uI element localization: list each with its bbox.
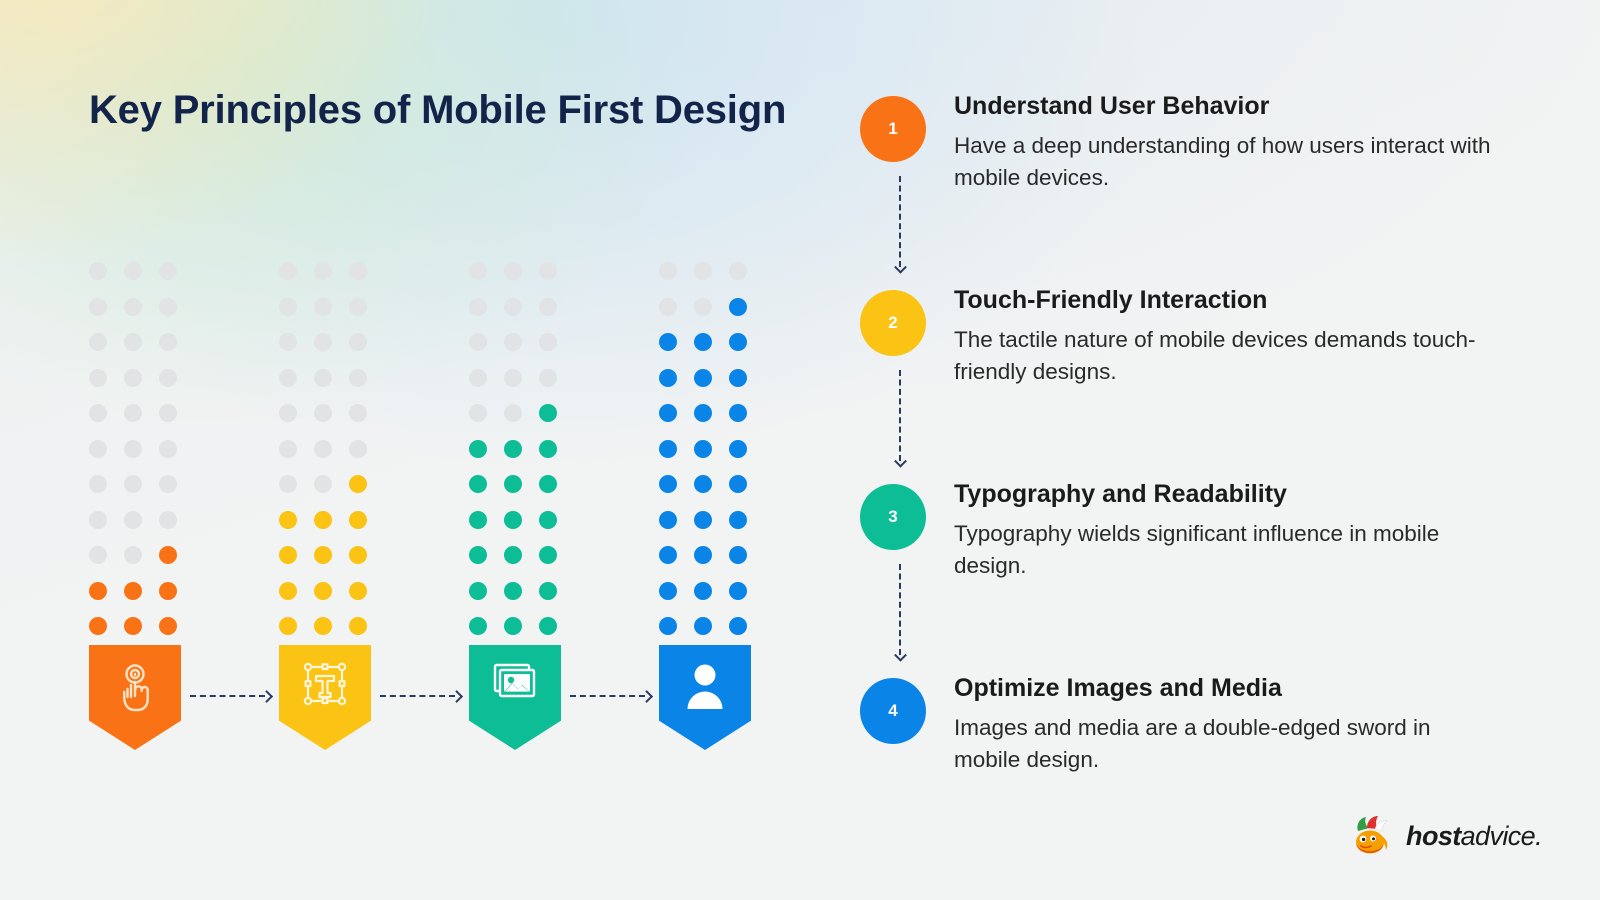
matrix-dot bbox=[504, 617, 522, 635]
matrix-dot bbox=[314, 546, 332, 564]
matrix-dot bbox=[694, 511, 712, 529]
step-number-badge: 4 bbox=[860, 678, 926, 744]
matrix-dot bbox=[159, 617, 177, 635]
tap-gesture-icon bbox=[112, 661, 158, 713]
images-stack-icon bbox=[489, 661, 541, 709]
matrix-dot bbox=[729, 617, 747, 635]
principles-list: 1Understand User BehaviorHave a deep und… bbox=[860, 92, 1520, 776]
hostadvice-mascot-icon bbox=[1348, 814, 1394, 858]
typography-t-icon bbox=[301, 661, 349, 711]
hostadvice-logo[interactable]: hostadvice. bbox=[1348, 814, 1542, 858]
step-description: Typography wields significant influence … bbox=[954, 518, 1494, 582]
step-number-badge: 3 bbox=[860, 484, 926, 550]
matrix-dot bbox=[694, 333, 712, 351]
matrix-dot bbox=[469, 298, 487, 316]
matrix-dot bbox=[314, 298, 332, 316]
matrix-dot bbox=[159, 333, 177, 351]
dot-row bbox=[469, 404, 569, 422]
step-title: Understand User Behavior bbox=[954, 92, 1494, 121]
dot-row bbox=[659, 262, 759, 280]
matrix-dot bbox=[349, 262, 367, 280]
matrix-dot bbox=[124, 546, 142, 564]
dot-row bbox=[89, 333, 189, 351]
matrix-dot bbox=[504, 582, 522, 600]
dot-row bbox=[279, 546, 379, 564]
dot-row bbox=[89, 475, 189, 493]
matrix-dot bbox=[279, 511, 297, 529]
dot-row bbox=[659, 511, 759, 529]
matrix-dot bbox=[469, 333, 487, 351]
matrix-dot bbox=[729, 298, 747, 316]
shield-shape-green bbox=[469, 645, 561, 750]
dot-row bbox=[469, 546, 569, 564]
infographic-poster: Key Principles of Mobile First Design bbox=[0, 0, 1600, 900]
matrix-dot bbox=[659, 404, 677, 422]
dot-row bbox=[279, 333, 379, 351]
matrix-dot bbox=[659, 298, 677, 316]
matrix-dot bbox=[729, 511, 747, 529]
step-number-badge: 2 bbox=[860, 290, 926, 356]
matrix-dot bbox=[279, 333, 297, 351]
flow-arrow-1 bbox=[190, 689, 274, 703]
matrix-dot bbox=[729, 262, 747, 280]
matrix-dot bbox=[504, 475, 522, 493]
matrix-dot bbox=[659, 333, 677, 351]
step-description: The tactile nature of mobile devices dem… bbox=[954, 324, 1494, 388]
matrix-dot bbox=[314, 617, 332, 635]
matrix-dot bbox=[539, 475, 557, 493]
dot-row bbox=[279, 617, 379, 635]
shield-item-user bbox=[659, 645, 759, 750]
shield-item-images bbox=[469, 645, 569, 750]
matrix-dot bbox=[729, 333, 747, 351]
matrix-dot bbox=[89, 440, 107, 458]
matrix-dot bbox=[539, 440, 557, 458]
step-body: Understand User BehaviorHave a deep unde… bbox=[954, 92, 1494, 194]
step-body: Typography and ReadabilityTypography wie… bbox=[954, 480, 1494, 582]
matrix-dot bbox=[159, 262, 177, 280]
flow-arrow-line bbox=[570, 695, 645, 697]
connector-line bbox=[899, 176, 901, 267]
matrix-dot bbox=[159, 511, 177, 529]
step-description: Images and media are a double-edged swor… bbox=[954, 712, 1494, 776]
dot-row bbox=[659, 582, 759, 600]
dot-row bbox=[659, 475, 759, 493]
matrix-dot bbox=[539, 262, 557, 280]
matrix-dot bbox=[659, 582, 677, 600]
matrix-dot bbox=[349, 298, 367, 316]
matrix-dot bbox=[89, 333, 107, 351]
matrix-dot bbox=[279, 369, 297, 387]
dot-row bbox=[89, 440, 189, 458]
dot-row bbox=[89, 298, 189, 316]
matrix-dot bbox=[314, 440, 332, 458]
matrix-dot bbox=[89, 369, 107, 387]
step-body: Touch-Friendly InteractionThe tactile na… bbox=[954, 286, 1494, 388]
dot-row bbox=[469, 369, 569, 387]
matrix-dot bbox=[89, 262, 107, 280]
matrix-dot bbox=[314, 582, 332, 600]
dot-matrix-column-1 bbox=[89, 262, 189, 642]
matrix-dot bbox=[694, 262, 712, 280]
logo-advice-text: advice. bbox=[1461, 821, 1542, 851]
flow-arrow-2 bbox=[380, 689, 464, 703]
shield-item-typography bbox=[279, 645, 379, 750]
dot-matrix-column-3 bbox=[469, 262, 569, 642]
dot-row bbox=[469, 262, 569, 280]
dot-row bbox=[279, 582, 379, 600]
matrix-dot bbox=[694, 546, 712, 564]
matrix-dot bbox=[349, 582, 367, 600]
dot-matrix-column-2 bbox=[279, 262, 379, 642]
matrix-dot bbox=[159, 298, 177, 316]
matrix-dot bbox=[159, 404, 177, 422]
dot-row bbox=[659, 617, 759, 635]
matrix-dot bbox=[349, 511, 367, 529]
matrix-dot bbox=[539, 298, 557, 316]
dot-row bbox=[469, 511, 569, 529]
matrix-dot bbox=[279, 404, 297, 422]
matrix-dot bbox=[659, 475, 677, 493]
dot-row bbox=[279, 369, 379, 387]
dot-row bbox=[279, 262, 379, 280]
matrix-dot bbox=[349, 617, 367, 635]
step-body: Optimize Images and MediaImages and medi… bbox=[954, 674, 1494, 776]
logo-host-text: host bbox=[1406, 821, 1461, 851]
matrix-dot bbox=[504, 511, 522, 529]
matrix-dot bbox=[314, 262, 332, 280]
matrix-dot bbox=[729, 404, 747, 422]
matrix-dot bbox=[504, 369, 522, 387]
principle-item-1: 1Understand User BehaviorHave a deep und… bbox=[860, 92, 1520, 286]
dot-row bbox=[279, 440, 379, 458]
logo-wordmark: hostadvice. bbox=[1406, 821, 1542, 852]
matrix-dot bbox=[504, 333, 522, 351]
matrix-dot bbox=[539, 333, 557, 351]
step-title: Touch-Friendly Interaction bbox=[954, 286, 1494, 315]
matrix-dot bbox=[159, 475, 177, 493]
matrix-dot bbox=[504, 298, 522, 316]
dot-row bbox=[659, 440, 759, 458]
dot-row bbox=[469, 617, 569, 635]
connector-line bbox=[899, 370, 901, 461]
matrix-dot bbox=[314, 511, 332, 529]
matrix-dot bbox=[314, 369, 332, 387]
matrix-dot bbox=[159, 440, 177, 458]
dot-row bbox=[469, 582, 569, 600]
step-number-badge: 1 bbox=[860, 96, 926, 162]
step-title: Typography and Readability bbox=[954, 480, 1494, 509]
matrix-dot bbox=[469, 262, 487, 280]
matrix-dot bbox=[159, 369, 177, 387]
dot-row bbox=[659, 298, 759, 316]
matrix-dot bbox=[279, 475, 297, 493]
matrix-dot bbox=[694, 404, 712, 422]
matrix-dot bbox=[124, 511, 142, 529]
matrix-dot bbox=[659, 440, 677, 458]
matrix-dot bbox=[729, 440, 747, 458]
flow-arrow-head bbox=[450, 690, 463, 703]
dot-row bbox=[659, 333, 759, 351]
matrix-dot bbox=[659, 262, 677, 280]
matrix-dot bbox=[124, 617, 142, 635]
flow-arrow-line bbox=[190, 695, 265, 697]
matrix-dot bbox=[539, 404, 557, 422]
dot-row bbox=[279, 511, 379, 529]
dot-row bbox=[89, 617, 189, 635]
principle-item-3: 3Typography and ReadabilityTypography wi… bbox=[860, 480, 1520, 674]
shield-item-tap bbox=[89, 645, 189, 750]
matrix-dot bbox=[314, 404, 332, 422]
matrix-dot bbox=[659, 617, 677, 635]
matrix-dot bbox=[469, 369, 487, 387]
matrix-dot bbox=[349, 333, 367, 351]
matrix-dot bbox=[729, 475, 747, 493]
matrix-dot bbox=[694, 369, 712, 387]
matrix-dot bbox=[729, 582, 747, 600]
matrix-dot bbox=[504, 404, 522, 422]
matrix-dot bbox=[539, 617, 557, 635]
matrix-dot bbox=[159, 582, 177, 600]
matrix-dot bbox=[504, 440, 522, 458]
matrix-dot bbox=[539, 369, 557, 387]
dot-row bbox=[89, 582, 189, 600]
matrix-dot bbox=[469, 582, 487, 600]
matrix-dot bbox=[159, 546, 177, 564]
matrix-dot bbox=[539, 582, 557, 600]
matrix-dot bbox=[279, 262, 297, 280]
matrix-dot bbox=[469, 440, 487, 458]
dot-row bbox=[89, 511, 189, 529]
dot-row bbox=[89, 369, 189, 387]
matrix-dot bbox=[89, 617, 107, 635]
dot-row bbox=[89, 404, 189, 422]
matrix-dot bbox=[469, 404, 487, 422]
matrix-dot bbox=[694, 298, 712, 316]
dot-row bbox=[469, 475, 569, 493]
dot-row bbox=[469, 298, 569, 316]
flow-arrow-head bbox=[640, 690, 653, 703]
shield-shape-yellow bbox=[279, 645, 371, 750]
connector-arrow-head bbox=[894, 649, 907, 662]
matrix-dot bbox=[504, 546, 522, 564]
dot-row bbox=[469, 333, 569, 351]
matrix-dot bbox=[89, 404, 107, 422]
matrix-dot bbox=[659, 546, 677, 564]
matrix-dot bbox=[89, 511, 107, 529]
matrix-dot bbox=[504, 262, 522, 280]
step-description: Have a deep understanding of how users i… bbox=[954, 130, 1494, 194]
dot-matrix-chart bbox=[89, 262, 789, 642]
matrix-dot bbox=[469, 511, 487, 529]
matrix-dot bbox=[124, 404, 142, 422]
connector-line bbox=[899, 564, 901, 655]
matrix-dot bbox=[124, 333, 142, 351]
matrix-dot bbox=[694, 617, 712, 635]
matrix-dot bbox=[469, 475, 487, 493]
matrix-dot bbox=[124, 440, 142, 458]
matrix-dot bbox=[124, 262, 142, 280]
principle-item-4: 4Optimize Images and MediaImages and med… bbox=[860, 674, 1520, 776]
dot-row bbox=[279, 475, 379, 493]
dot-row bbox=[279, 298, 379, 316]
matrix-dot bbox=[694, 475, 712, 493]
matrix-dot bbox=[314, 475, 332, 493]
matrix-dot bbox=[694, 440, 712, 458]
matrix-dot bbox=[279, 617, 297, 635]
shield-icon-row bbox=[89, 645, 789, 755]
user-person-icon bbox=[681, 661, 729, 711]
matrix-dot bbox=[659, 511, 677, 529]
dot-row bbox=[469, 440, 569, 458]
matrix-dot bbox=[89, 475, 107, 493]
matrix-dot bbox=[124, 475, 142, 493]
flow-arrow-line bbox=[380, 695, 455, 697]
matrix-dot bbox=[279, 440, 297, 458]
matrix-dot bbox=[729, 546, 747, 564]
step-connector-arrow bbox=[893, 370, 907, 470]
matrix-dot bbox=[89, 546, 107, 564]
matrix-dot bbox=[349, 440, 367, 458]
dot-row bbox=[659, 404, 759, 422]
matrix-dot bbox=[539, 511, 557, 529]
flow-arrow-head bbox=[260, 690, 273, 703]
shield-shape-blue bbox=[659, 645, 751, 750]
matrix-dot bbox=[659, 369, 677, 387]
matrix-dot bbox=[124, 298, 142, 316]
connector-arrow-head bbox=[894, 261, 907, 274]
dot-row bbox=[89, 546, 189, 564]
flow-arrow-3 bbox=[570, 689, 654, 703]
dot-matrix-column-4 bbox=[659, 262, 759, 642]
matrix-dot bbox=[279, 582, 297, 600]
principle-item-2: 2Touch-Friendly InteractionThe tactile n… bbox=[860, 286, 1520, 480]
matrix-dot bbox=[729, 369, 747, 387]
step-connector-arrow bbox=[893, 564, 907, 664]
matrix-dot bbox=[539, 546, 557, 564]
matrix-dot bbox=[349, 475, 367, 493]
matrix-dot bbox=[469, 546, 487, 564]
matrix-dot bbox=[89, 582, 107, 600]
dot-row bbox=[279, 404, 379, 422]
matrix-dot bbox=[349, 546, 367, 564]
shield-shape-orange bbox=[89, 645, 181, 750]
step-title: Optimize Images and Media bbox=[954, 674, 1494, 703]
connector-arrow-head bbox=[894, 455, 907, 468]
dot-row bbox=[659, 369, 759, 387]
matrix-dot bbox=[694, 582, 712, 600]
matrix-dot bbox=[124, 582, 142, 600]
matrix-dot bbox=[124, 369, 142, 387]
matrix-dot bbox=[469, 617, 487, 635]
matrix-dot bbox=[279, 298, 297, 316]
matrix-dot bbox=[279, 546, 297, 564]
matrix-dot bbox=[314, 333, 332, 351]
page-title: Key Principles of Mobile First Design bbox=[89, 88, 786, 133]
step-connector-arrow bbox=[893, 176, 907, 276]
matrix-dot bbox=[349, 369, 367, 387]
dot-row bbox=[659, 546, 759, 564]
matrix-dot bbox=[89, 298, 107, 316]
matrix-dot bbox=[349, 404, 367, 422]
dot-row bbox=[89, 262, 189, 280]
